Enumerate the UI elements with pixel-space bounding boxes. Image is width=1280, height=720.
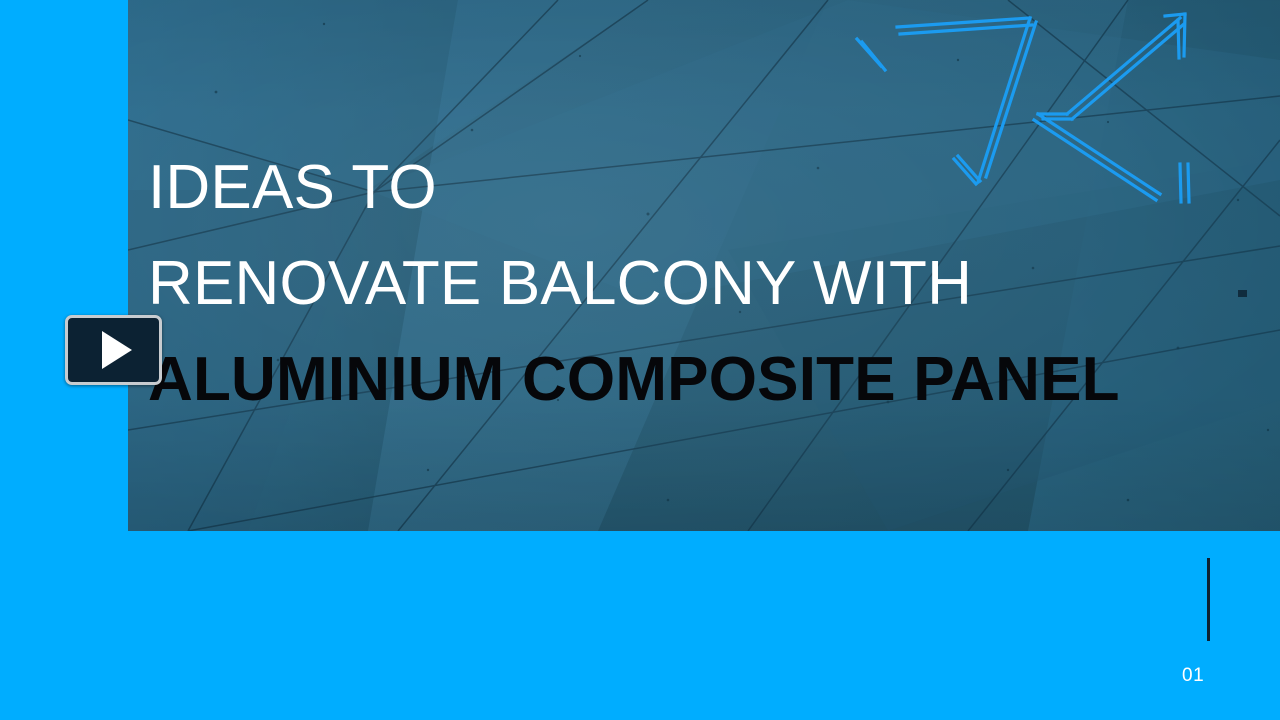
- presentation-slide: IDEAS TO RENOVATE BALCONY WITH ALUMINIUM…: [0, 0, 1280, 720]
- title-line-1: IDEAS TO: [148, 140, 1258, 236]
- video-play-button[interactable]: [65, 315, 162, 385]
- footer-vertical-rule: [1207, 558, 1210, 641]
- play-icon: [102, 331, 132, 369]
- title-line-3: ALUMINIUM COMPOSITE PANEL: [148, 332, 1258, 428]
- slide-title-block: IDEAS TO RENOVATE BALCONY WITH ALUMINIUM…: [148, 140, 1258, 428]
- title-line-2: RENOVATE BALCONY WITH: [148, 236, 1258, 332]
- page-number: 01: [1182, 665, 1242, 687]
